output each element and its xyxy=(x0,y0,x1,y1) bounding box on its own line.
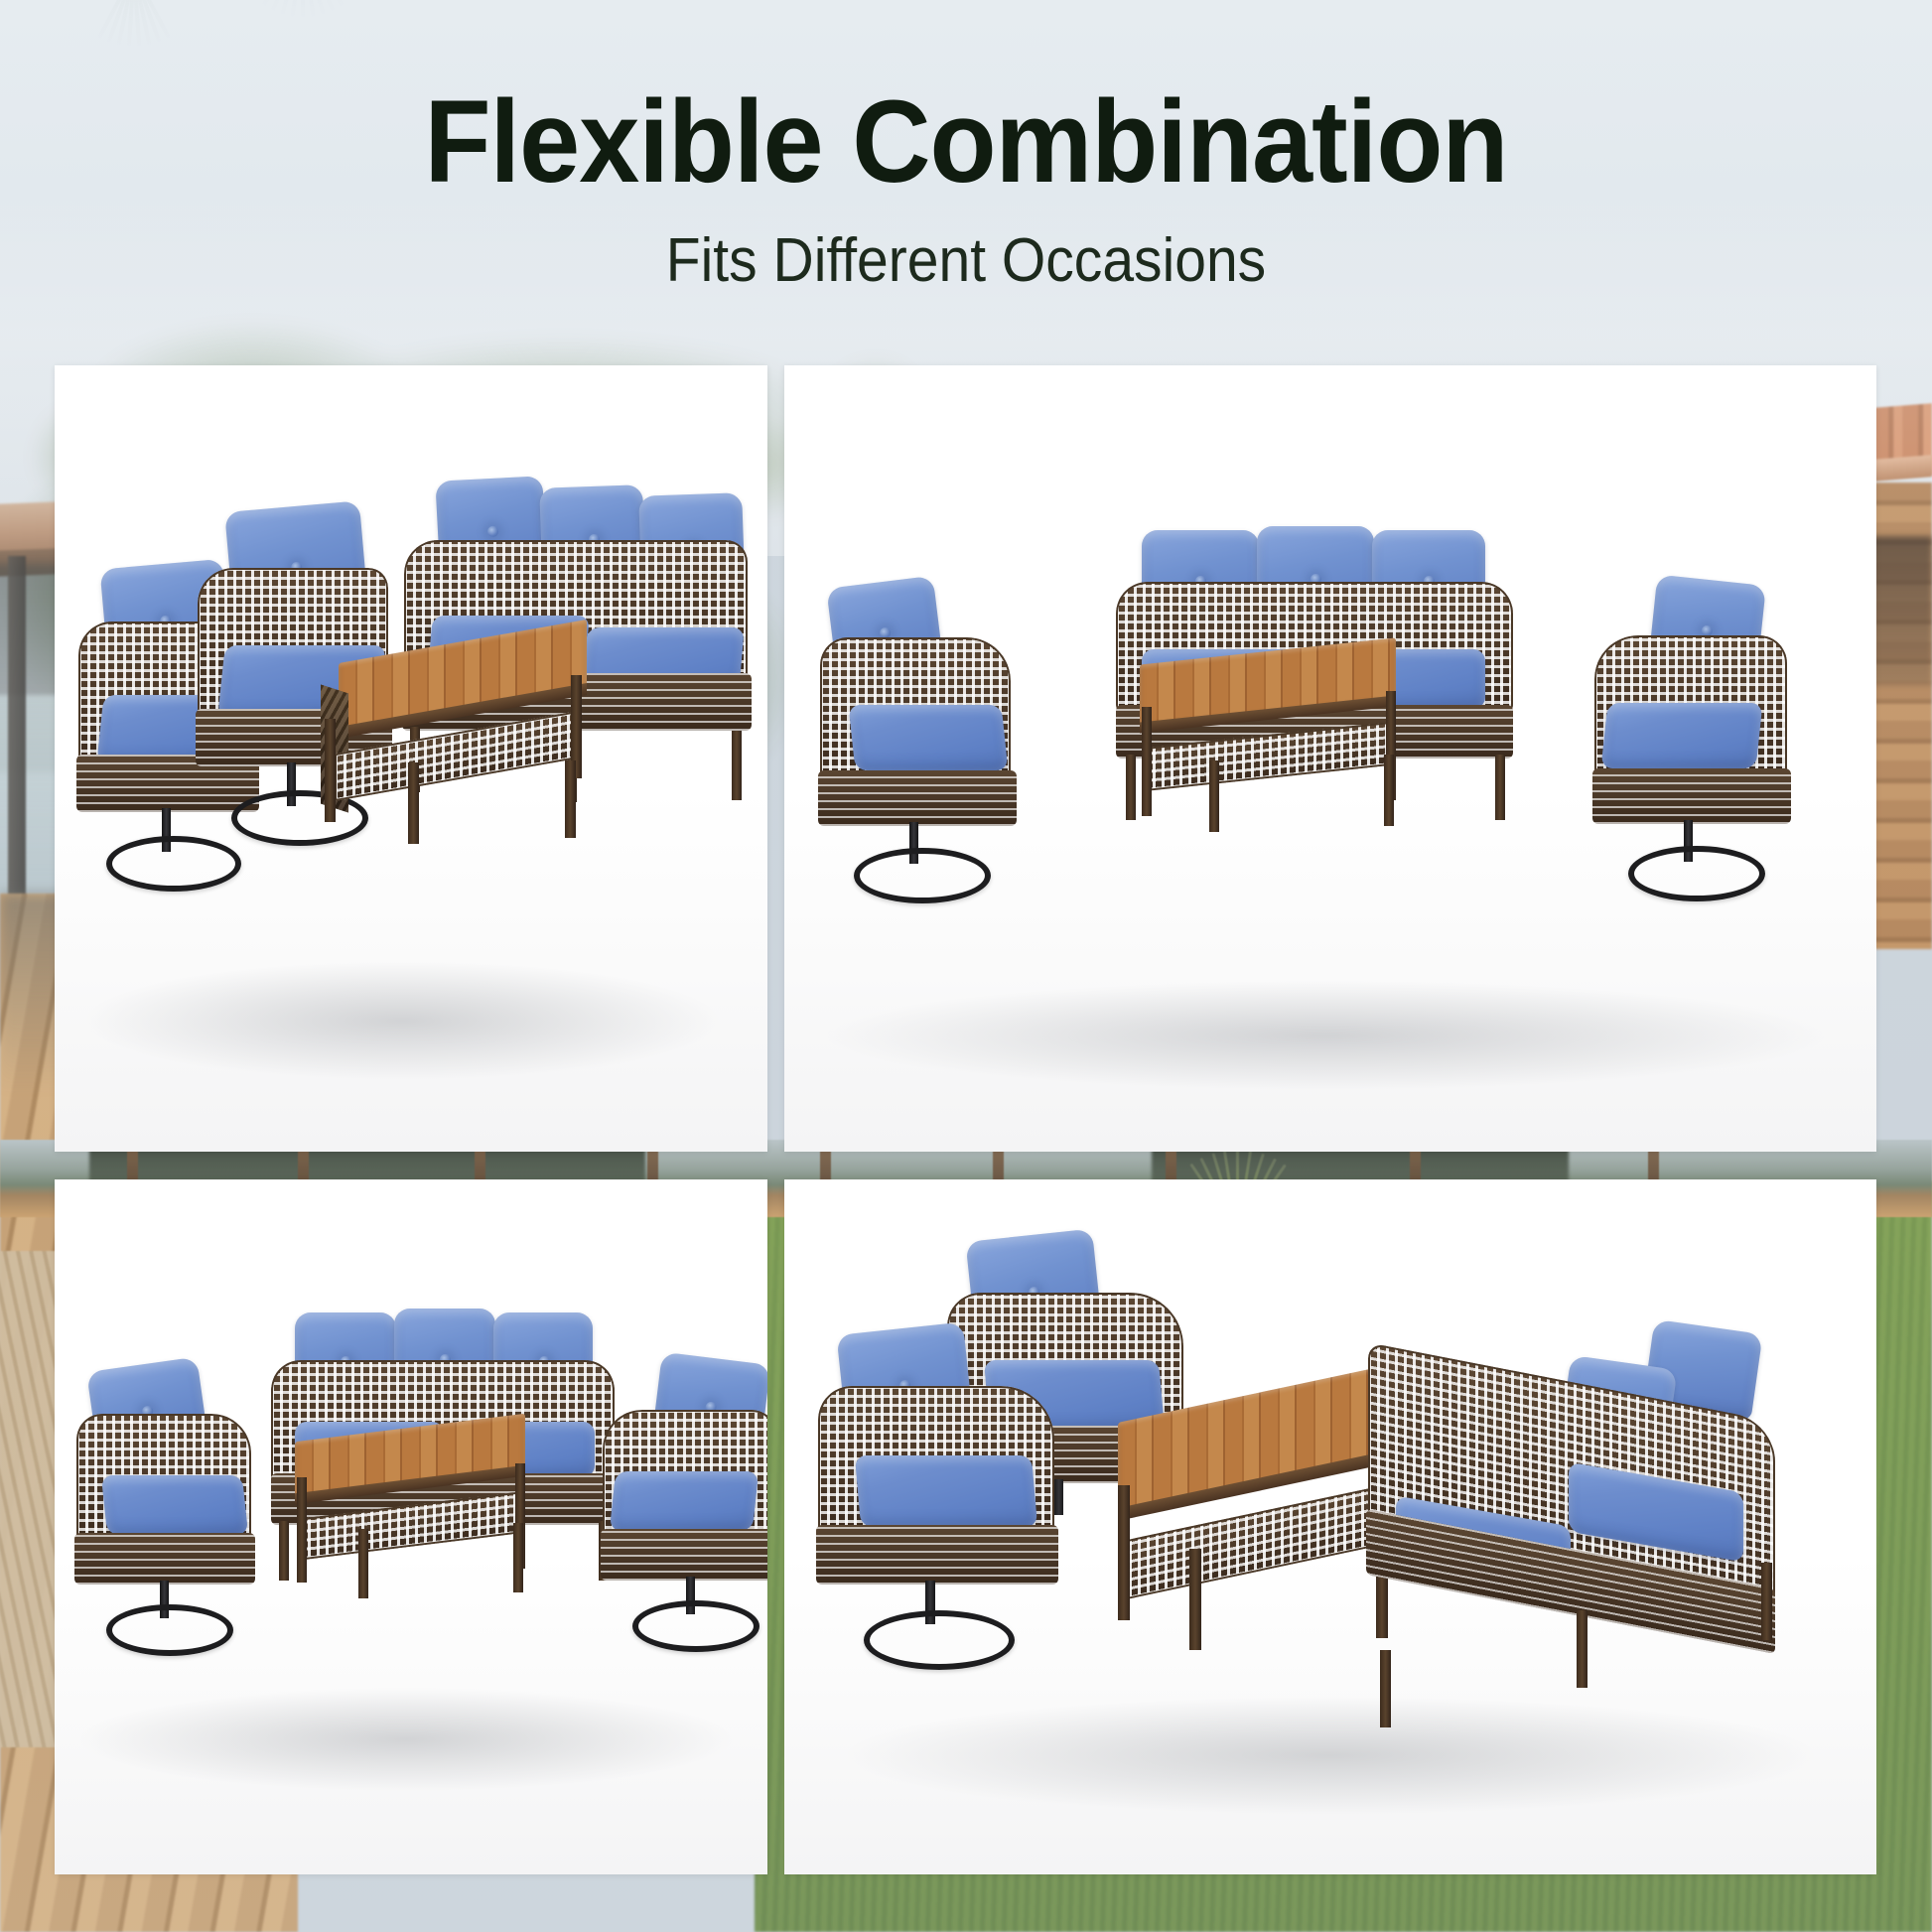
table-leg xyxy=(1209,760,1219,832)
table-leg xyxy=(408,762,419,844)
swivel-chair[interactable] xyxy=(1579,580,1813,907)
table-leg xyxy=(513,1523,523,1592)
table-leg xyxy=(325,719,336,822)
chair-skirt xyxy=(816,1525,1058,1585)
table-leg xyxy=(358,1529,368,1598)
sofa-leg xyxy=(1380,1650,1391,1727)
product-panel-configuration-3[interactable] xyxy=(55,1179,767,1874)
sofa-leg xyxy=(1577,1610,1587,1688)
chair-swivel-base xyxy=(106,1604,233,1656)
table-leg xyxy=(297,1477,307,1583)
chair-swivel-base xyxy=(106,836,241,892)
chair-seat-cushion xyxy=(1601,703,1763,768)
coffee-table[interactable] xyxy=(275,1428,545,1612)
chair-swivel-base xyxy=(1628,846,1765,901)
coffee-table[interactable] xyxy=(1118,651,1416,840)
chair-skirt xyxy=(74,1533,255,1585)
swivel-chair[interactable] xyxy=(72,1364,277,1662)
chair-swivel-base xyxy=(854,848,991,903)
chair-seat-cushion xyxy=(101,1475,248,1535)
table-lower-shelf xyxy=(1144,722,1392,791)
chair-seat-cushion xyxy=(849,705,1009,770)
table-leg xyxy=(1142,707,1152,816)
chair-seat-cushion xyxy=(855,1455,1037,1527)
panel-ground-shadow xyxy=(824,981,1827,1090)
product-panel-configuration-1[interactable] xyxy=(55,365,767,1152)
coffee-table[interactable] xyxy=(311,641,591,850)
panel-ground-shadow xyxy=(84,961,720,1080)
sofa-leg xyxy=(1761,1563,1772,1640)
heading-block: Flexible Combination Fits Different Occa… xyxy=(0,0,1932,292)
chair-skirt xyxy=(601,1529,767,1581)
chair-swivel-base xyxy=(864,1610,1015,1670)
page-title: Flexible Combination xyxy=(68,0,1864,201)
chair-skirt xyxy=(818,770,1017,826)
page-subtitle: Fits Different Occasions xyxy=(77,201,1855,292)
swivel-chair[interactable] xyxy=(808,1328,1106,1666)
chair-skirt xyxy=(1592,768,1791,824)
sofa-leg xyxy=(732,731,742,800)
table-leg xyxy=(565,760,576,838)
panel-ground-shadow xyxy=(78,1688,734,1791)
product-panel-configuration-4[interactable] xyxy=(784,1179,1876,1874)
table-leg xyxy=(1189,1549,1201,1650)
chair-seat-cushion xyxy=(610,1471,759,1531)
sofa-leg xyxy=(1495,755,1505,820)
product-panel-configuration-2[interactable] xyxy=(784,365,1876,1152)
sofa-long[interactable] xyxy=(1350,1326,1847,1823)
chair-swivel-base xyxy=(632,1600,759,1652)
table-lower-shelf xyxy=(299,1491,521,1561)
table-leg xyxy=(1384,755,1394,826)
table-leg xyxy=(1118,1485,1130,1620)
swivel-chair[interactable] xyxy=(814,582,1044,909)
swivel-chair[interactable] xyxy=(591,1358,767,1662)
